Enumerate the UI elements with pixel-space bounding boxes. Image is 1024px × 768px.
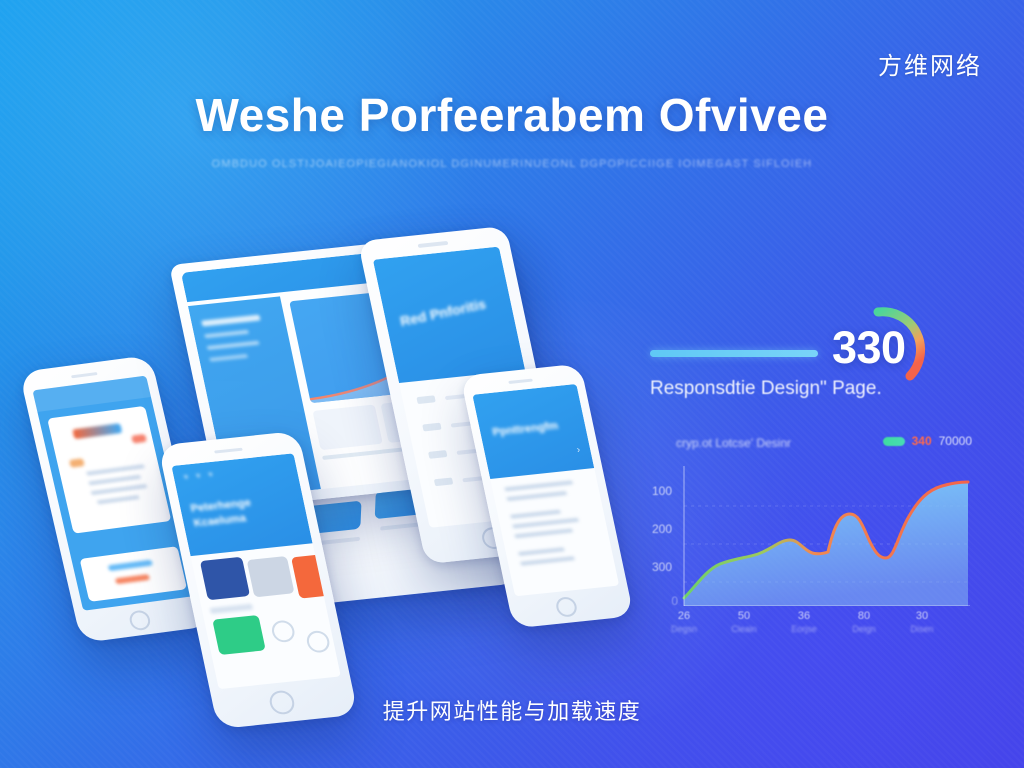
phone-front-tile-1[interactable] — [200, 557, 250, 601]
x-tick-label-4: 80 — [844, 610, 884, 622]
x-tick-label-1: 26 — [664, 610, 704, 622]
phone-left-card — [47, 406, 171, 534]
performance-dashboard: 330 Responsdtie Design" Page. cryp.ot Lo… — [636, 296, 986, 646]
legend-swatch — [883, 437, 905, 446]
progress-bar-fill — [650, 350, 818, 357]
performance-area-chart: cryp.ot Lotcse' Desinr 340 70000 100 200… — [646, 436, 976, 636]
desktop-card-1 — [312, 404, 382, 450]
phone-front-tile-2[interactable] — [247, 556, 295, 597]
chart-title: cryp.ot Lotcse' Desinr — [676, 436, 791, 450]
x-sublabel-2: Cleain — [721, 624, 767, 634]
x-sublabel-1: Degsn — [661, 624, 707, 634]
dashboard-label: Responsdtie Design" Page. — [650, 378, 882, 400]
phone-left-button[interactable] — [80, 546, 188, 602]
hero-banner: 方维网络 Weshe Porfeerabem Ofvivee OMBDUO OL… — [0, 0, 1024, 768]
phone-right-mockup: Ppnttrengfm › — [460, 364, 634, 629]
phone-front-icon-button-1[interactable] — [270, 619, 297, 643]
legend-value: 340 — [912, 434, 932, 448]
chart-plot-area — [680, 466, 970, 606]
y-tick-label-1: 100 — [646, 484, 672, 498]
x-tick-label-3: 36 — [784, 610, 824, 622]
page-subtitle: OMBDUO OLSTIJOAIEOPIEGIANOKIOL DGINUMERI… — [0, 158, 1024, 170]
page-title: Weshe Porfeerabem Ofvivee — [0, 88, 1024, 142]
brand-logo: 方维网络 — [878, 46, 982, 81]
y-tick-label-2: 200 — [646, 522, 672, 536]
x-sublabel-3: Eorjse — [781, 624, 827, 634]
tablet-hero-title: Red Pnforitis — [399, 296, 488, 330]
x-tick-label-5: 30 — [902, 610, 942, 622]
device-mockup-cluster: Red Pnforitis — [40, 215, 620, 685]
phone-front-action-button[interactable] — [212, 615, 265, 655]
phone-front-icon-button-2[interactable] — [305, 630, 332, 654]
phone-right-hero: Ppnttrengfm › — [472, 384, 594, 479]
chart-legend: 340 70000 — [883, 434, 972, 448]
phone-right-hero-title: Ppnttrengfm — [491, 420, 559, 439]
chevron-right-icon: › — [576, 445, 582, 456]
tablet-hero: Red Pnforitis — [373, 247, 525, 383]
x-sublabel-5: Disen — [899, 624, 945, 634]
footer-caption: 提升网站性能与加载速度 — [0, 694, 1024, 726]
progress-bar-track — [650, 350, 818, 357]
phone-front-hero: ▾ ▾ ▾ Peterhenge Kcaeluma — [171, 453, 312, 556]
phone-front-hero-title: Peterhenge Kcaeluma — [189, 492, 295, 532]
y-tick-label-3: 300 — [646, 560, 672, 574]
y-tick-label-4: 0 — [652, 594, 678, 608]
legend-total: 70000 — [939, 434, 972, 448]
x-sublabel-4: Deign — [841, 624, 887, 634]
x-tick-label-2: 50 — [724, 610, 764, 622]
